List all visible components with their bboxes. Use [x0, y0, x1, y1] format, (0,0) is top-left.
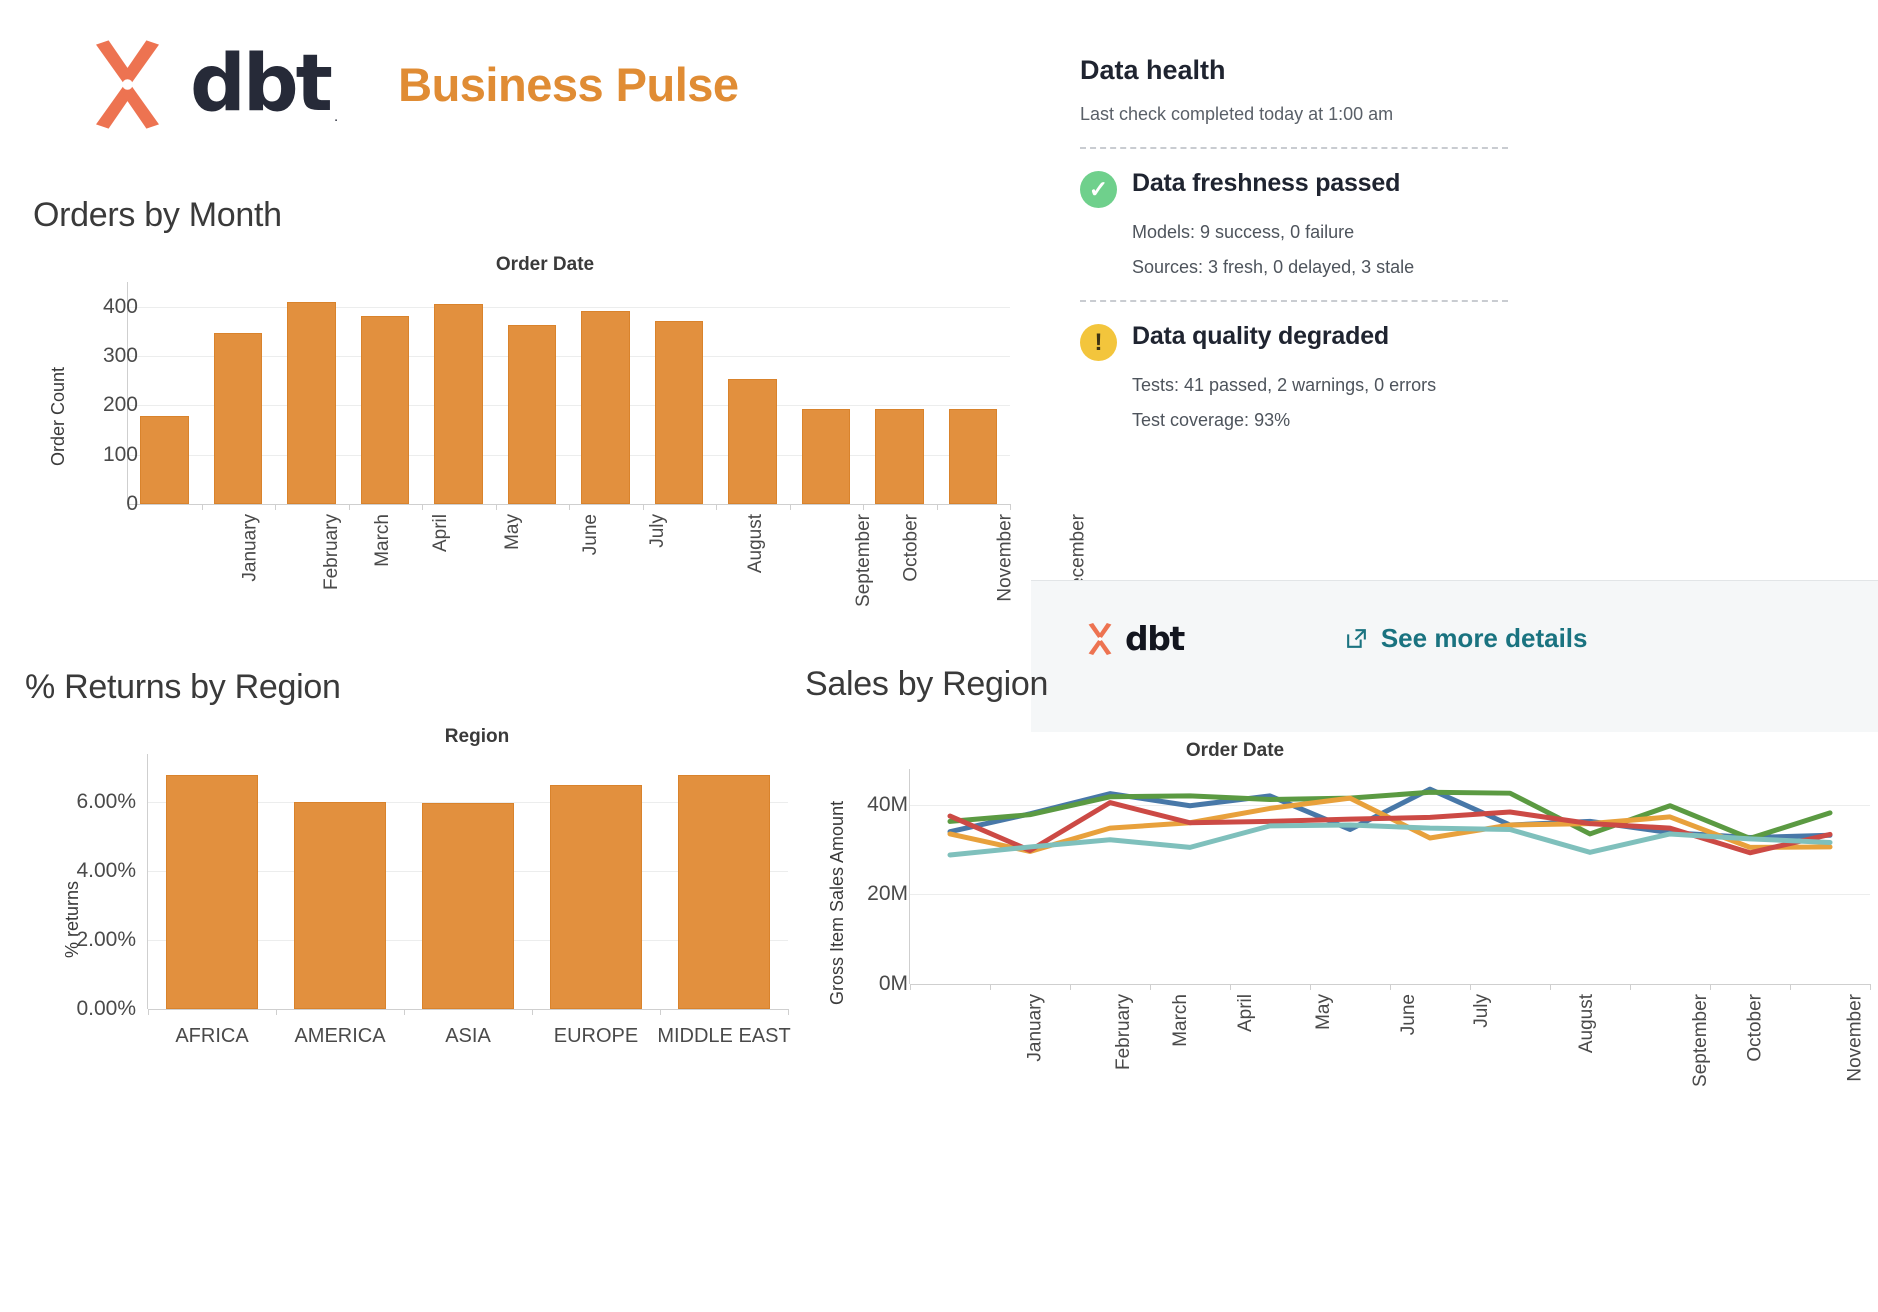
y-axis-line — [147, 754, 148, 1009]
bar — [802, 409, 851, 504]
health-item-quality-line-1: Tests: 41 passed, 2 warnings, 0 errors — [1132, 375, 1520, 396]
y-tick-label: 0.00% — [76, 997, 136, 1021]
y-tick-label: 4.00% — [76, 859, 136, 883]
x-tick-label: November — [994, 514, 1016, 602]
bar — [508, 325, 557, 504]
y-tick-label: 20M — [867, 882, 908, 906]
x-tick-label: March — [372, 514, 394, 567]
returns-chart-top-label: Region — [445, 726, 509, 748]
data-health-title: Data health — [1080, 55, 1520, 86]
data-health-subtitle: Last check completed today at 1:00 am — [1080, 104, 1520, 125]
x-tick-label: October — [901, 514, 923, 582]
y-tick-label: 6.00% — [76, 790, 136, 814]
sales-section-title: Sales by Region — [805, 665, 1048, 704]
warning-circle-icon: ! — [1080, 324, 1117, 361]
health-item-freshness-line-1: Models: 9 success, 0 failure — [1132, 222, 1520, 243]
x-tick-mark — [660, 1009, 661, 1015]
x-axis-line — [148, 1009, 788, 1010]
x-tick-mark — [910, 984, 911, 990]
bar — [655, 321, 704, 504]
bar — [550, 785, 642, 1009]
x-tick-mark — [532, 1009, 533, 1015]
y-tick-label: 0M — [879, 972, 908, 996]
check-circle-icon: ✓ — [1080, 171, 1117, 208]
x-tick-label: September — [853, 514, 875, 607]
bar — [214, 333, 263, 504]
x-tick-mark — [790, 504, 791, 510]
bar — [166, 775, 258, 1009]
x-tick-mark — [1550, 984, 1551, 990]
orders-chart-top-label: Order Date — [496, 254, 594, 276]
orders-by-month-panel: Orders by Month Order Date Order Count 0… — [30, 196, 1030, 646]
x-tick-mark — [788, 1009, 789, 1015]
x-tick-mark — [148, 1009, 149, 1015]
x-tick-label: January — [1025, 994, 1047, 1062]
x-tick-mark — [937, 504, 938, 510]
x-tick-label: April — [1235, 994, 1257, 1032]
bar — [581, 311, 630, 504]
bar — [422, 803, 514, 1009]
x-tick-mark — [1070, 984, 1071, 990]
x-tick-mark — [1790, 984, 1791, 990]
health-item-freshness-line-2: Sources: 3 fresh, 0 delayed, 3 stale — [1132, 257, 1520, 278]
x-tick-mark — [422, 504, 423, 510]
returns-by-region-panel: % Returns by Region Region % returns 0.0… — [22, 668, 822, 1108]
y-tick-label: 100 — [103, 443, 138, 467]
external-link-icon — [1344, 626, 1369, 651]
health-item-quality: ! Data quality degraded — [1080, 322, 1520, 361]
x-tick-mark — [1010, 504, 1011, 510]
x-tick-mark — [1150, 984, 1151, 990]
data-health-panel: Data health Last check completed today a… — [1080, 55, 1520, 431]
x-tick-mark — [404, 1009, 405, 1015]
x-tick-label: AMERICA — [294, 1025, 385, 1048]
orders-y-axis-label: Order Count — [48, 367, 69, 466]
x-tick-mark — [276, 1009, 277, 1015]
health-item-quality-heading: Data quality degraded — [1132, 322, 1389, 351]
x-tick-label: August — [1576, 994, 1598, 1053]
y-tick-label: 2.00% — [76, 928, 136, 952]
x-tick-label: January — [239, 514, 261, 582]
see-more-details-label: See more details — [1381, 623, 1588, 654]
x-tick-mark — [202, 504, 203, 510]
dbt-trademark: . — [334, 108, 338, 125]
x-tick-label: February — [321, 514, 343, 590]
y-tick-label: 0 — [126, 492, 138, 516]
sales-chart-top-label: Order Date — [1186, 740, 1284, 762]
x-tick-mark — [1870, 984, 1871, 990]
bar — [434, 304, 483, 504]
health-item-freshness-heading: Data freshness passed — [1132, 169, 1400, 198]
x-tick-mark — [643, 504, 644, 510]
health-divider-1 — [1080, 147, 1508, 149]
x-tick-label: July — [1471, 994, 1493, 1028]
x-tick-label: October — [1745, 994, 1767, 1062]
x-tick-mark — [496, 504, 497, 510]
x-tick-mark — [863, 504, 864, 510]
sales-y-axis-label: Gross Item Sales Amount — [827, 801, 848, 1005]
y-tick-label: 200 — [103, 393, 138, 417]
x-tick-mark — [990, 984, 991, 990]
returns-section-title: % Returns by Region — [25, 668, 341, 707]
bar — [294, 802, 386, 1009]
x-tick-mark — [275, 504, 276, 510]
bar — [949, 409, 998, 504]
dbt-mark-icon — [75, 32, 180, 137]
x-tick-mark — [1470, 984, 1471, 990]
health-item-freshness: ✓ Data freshness passed — [1080, 169, 1520, 208]
x-tick-label: June — [1398, 994, 1420, 1035]
dbt-mark-icon — [1081, 620, 1119, 658]
card-dbt-logo: dbt — [1081, 619, 1184, 658]
sales-lines — [910, 769, 1870, 984]
x-tick-mark — [1630, 984, 1631, 990]
bar — [728, 379, 777, 504]
y-tick-label: 300 — [103, 344, 138, 368]
x-tick-mark — [1310, 984, 1311, 990]
dashboard-page: dbt . Business Pulse Orders by Month Ord… — [0, 0, 1878, 1312]
health-item-quality-line-2: Test coverage: 93% — [1132, 410, 1520, 431]
dbt-logo-text: dbt — [190, 49, 330, 121]
x-tick-label: MIDDLE EAST — [657, 1025, 790, 1048]
health-divider-2 — [1080, 300, 1508, 302]
x-tick-label: May — [502, 514, 524, 550]
x-tick-label: EUROPE — [554, 1025, 638, 1048]
x-tick-label: June — [580, 514, 602, 555]
x-tick-label: September — [1690, 994, 1712, 1087]
bar — [140, 416, 189, 504]
x-tick-mark — [1390, 984, 1391, 990]
bar — [678, 775, 770, 1009]
returns-plot-area — [148, 754, 788, 1009]
x-tick-label: February — [1113, 994, 1135, 1070]
y-tick-label: 400 — [103, 295, 138, 319]
bar — [287, 302, 336, 504]
x-tick-mark — [1710, 984, 1711, 990]
x-tick-mark — [716, 504, 717, 510]
y-tick-label: 40M — [867, 793, 908, 817]
x-tick-label: ASIA — [445, 1025, 491, 1048]
x-tick-mark — [569, 504, 570, 510]
x-tick-mark — [1230, 984, 1231, 990]
x-tick-label: April — [430, 514, 452, 552]
dbt-logo: dbt . — [75, 32, 338, 137]
x-tick-label: May — [1313, 994, 1335, 1030]
x-tick-label: November — [1845, 994, 1867, 1082]
x-tick-label: AFRICA — [175, 1025, 248, 1048]
gridline — [128, 307, 1010, 308]
bar — [875, 409, 924, 504]
sales-by-region-panel: Sales by Region Order Date Gross Item Sa… — [805, 665, 1878, 1125]
x-tick-label: July — [647, 514, 669, 548]
card-dbt-logo-text: dbt — [1125, 619, 1184, 658]
x-tick-label: August — [745, 514, 767, 573]
page-header: dbt . Business Pulse — [75, 32, 739, 137]
orders-section-title: Orders by Month — [33, 196, 282, 235]
x-tick-label: March — [1170, 994, 1192, 1047]
sales-plot-area — [910, 769, 1870, 984]
x-tick-mark — [349, 504, 350, 510]
see-more-details-link[interactable]: See more details — [1344, 623, 1588, 654]
bar — [361, 316, 410, 504]
orders-plot-area — [128, 282, 1010, 504]
page-title: Business Pulse — [398, 57, 738, 112]
